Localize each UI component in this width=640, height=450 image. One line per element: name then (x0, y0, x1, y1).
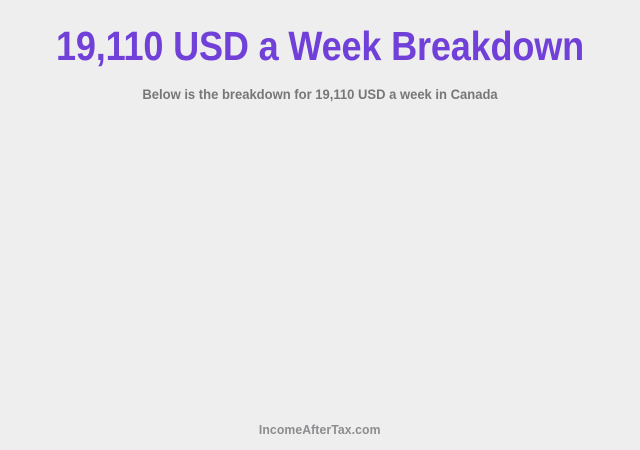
site-footer: IncomeAfterTax.com (0, 421, 640, 439)
footer-brand-label: IncomeAfterTax.com (259, 422, 381, 438)
main-content-area (0, 115, 640, 410)
page-subtitle: Below is the breakdown for 19,110 USD a … (22, 85, 617, 103)
page-root: 19,110 USD a Week Breakdown Below is the… (0, 0, 640, 450)
page-title: 19,110 USD a Week Breakdown (38, 22, 601, 70)
